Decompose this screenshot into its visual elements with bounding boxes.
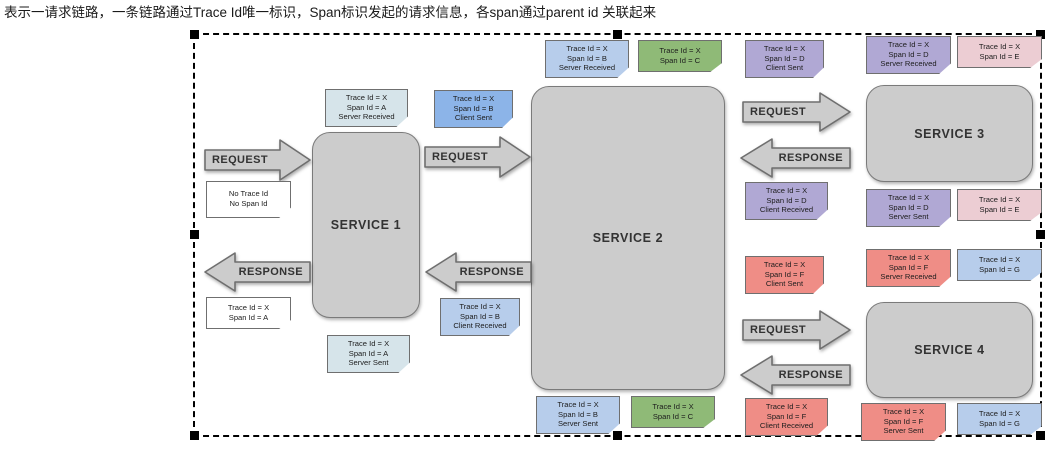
note-client-request-line-1: No Span Id (230, 199, 268, 209)
note-s1-server-received-line-2: Server Received (338, 112, 394, 122)
note-s1-server-received[interactable]: Trace Id = X Span Id = A Server Received (325, 89, 408, 127)
resize-handle-middle-left[interactable] (190, 230, 199, 239)
note-s4-span-g-bottom-line-0: Trace Id = X (979, 409, 1020, 419)
note-s4-span-g-top-line-1: Span Id = G (979, 265, 1020, 275)
note-s2-client-sent-d-line-2: Client Sent (766, 63, 803, 73)
note-s2-client-received-f-line-0: Trace Id = X (766, 402, 807, 412)
note-s2-client-received-d[interactable]: Trace Id = X Span Id = D Client Received (745, 182, 828, 220)
note-s1-client-received[interactable]: Trace Id = X Span Id = B Client Received (440, 298, 520, 336)
arrow-response-s4-to-s2-label: RESPONSE (779, 369, 843, 381)
arrow-response-s3-to-s2[interactable]: RESPONSE (739, 138, 851, 178)
diagram-canvas: 表示一请求链路，一条链路通过Trace Id唯一标识，Span标识发起的请求信息… (0, 0, 1053, 453)
note-client-request-line-0: No Trace Id (229, 189, 268, 199)
note-s4-server-sent[interactable]: Trace Id = X Span Id = F Server Sent (861, 403, 946, 441)
note-s2-client-received-f-line-2: Client Received (760, 421, 813, 431)
service-box-1[interactable]: SERVICE 1 (312, 132, 420, 318)
note-s2-server-received-line-0: Trace Id = X (566, 44, 607, 54)
note-s2-client-sent-f-line-1: Span Id = F (765, 270, 804, 280)
note-s3-server-sent-line-1: Span Id = D (888, 203, 928, 213)
note-s2-client-received-d-line-1: Span Id = D (766, 196, 806, 206)
note-s2-server-received-line-2: Server Received (559, 63, 615, 73)
service-box-2[interactable]: SERVICE 2 (531, 86, 725, 390)
note-s1-server-sent-line-0: Trace Id = X (348, 339, 389, 349)
note-s2-client-sent-d-line-0: Trace Id = X (764, 44, 805, 54)
note-s4-server-received[interactable]: Trace Id = X Span Id = F Server Received (866, 249, 951, 287)
resize-handle-bottom-center[interactable] (613, 431, 622, 440)
note-s2-server-received-line-1: Span Id = B (567, 54, 607, 64)
resize-handle-middle-right[interactable] (1036, 230, 1045, 239)
arrow-request-s2-to-s3-label: REQUEST (750, 106, 806, 118)
note-s1-server-received-line-0: Trace Id = X (346, 93, 387, 103)
note-s2-span-c-bottom[interactable]: Trace Id = X Span Id = C (631, 396, 715, 428)
note-s2-span-c-bottom-line-0: Trace Id = X (652, 402, 693, 412)
note-s4-server-sent-line-2: Server Sent (883, 426, 923, 436)
note-s3-server-received-line-0: Trace Id = X (888, 40, 929, 50)
note-s1-server-sent[interactable]: Trace Id = X Span Id = A Server Sent (327, 335, 410, 373)
note-s2-server-sent-line-0: Trace Id = X (557, 400, 598, 410)
arrow-request-s2-to-s3[interactable]: REQUEST (742, 92, 852, 132)
note-s3-server-received-line-1: Span Id = D (888, 50, 928, 60)
note-s2-server-sent-line-1: Span Id = B (558, 410, 598, 420)
note-s3-server-sent-line-0: Trace Id = X (888, 193, 929, 203)
note-s4-span-g-top-line-0: Trace Id = X (979, 255, 1020, 265)
note-s4-span-g-top[interactable]: Trace Id = X Span Id = G (957, 249, 1042, 281)
arrow-response-s1-to-client-label: RESPONSE (239, 266, 303, 278)
arrow-request-s2-to-s4-label: REQUEST (750, 324, 806, 336)
note-s3-span-e-bottom[interactable]: Trace Id = X Span Id = E (957, 189, 1042, 221)
note-s1-client-received-line-2: Client Received (453, 321, 506, 331)
note-s1-client-sent-line-2: Client Sent (455, 113, 492, 123)
arrow-response-s4-to-s2[interactable]: RESPONSE (739, 355, 851, 395)
note-s4-server-received-line-1: Span Id = F (889, 263, 928, 273)
arrow-request-s2-to-s4[interactable]: REQUEST (742, 310, 852, 350)
note-s1-client-sent-line-1: Span Id = B (454, 104, 494, 114)
note-s3-span-e-bottom-line-0: Trace Id = X (979, 195, 1020, 205)
arrow-response-s3-to-s2-label: RESPONSE (779, 152, 843, 164)
arrow-response-s2-to-s1[interactable]: RESPONSE (424, 252, 532, 292)
arrow-response-s2-to-s1-label: RESPONSE (460, 266, 524, 278)
note-s2-span-c-bottom-line-1: Span Id = C (653, 412, 693, 422)
note-s2-client-sent-f-line-0: Trace Id = X (764, 260, 805, 270)
note-s2-server-received[interactable]: Trace Id = X Span Id = B Server Received (545, 40, 629, 78)
note-s3-server-sent-line-2: Server Sent (888, 212, 928, 222)
note-s2-span-c-top[interactable]: Trace Id = X Span Id = C (638, 40, 722, 72)
service-3-label: SERVICE 3 (914, 127, 984, 141)
note-s2-client-received-d-line-0: Trace Id = X (766, 186, 807, 196)
service-2-label: SERVICE 2 (593, 231, 663, 245)
note-s1-server-sent-line-2: Server Sent (348, 358, 388, 368)
note-s2-client-received-f-line-1: Span Id = F (767, 412, 806, 422)
arrow-request-s1-to-s2[interactable]: REQUEST (424, 135, 532, 179)
note-s3-span-e-top[interactable]: Trace Id = X Span Id = E (957, 36, 1042, 68)
note-s1-client-received-line-0: Trace Id = X (459, 302, 500, 312)
note-s4-server-sent-line-1: Span Id = F (884, 417, 923, 427)
note-s2-client-sent-f[interactable]: Trace Id = X Span Id = F Client Sent (745, 256, 824, 294)
service-4-label: SERVICE 4 (914, 343, 984, 357)
note-s3-server-sent[interactable]: Trace Id = X Span Id = D Server Sent (866, 189, 951, 227)
note-client-request[interactable]: No Trace Id No Span Id (206, 181, 291, 218)
arrow-request-s1-to-s2-label: REQUEST (432, 151, 488, 163)
resize-handle-bottom-right[interactable] (1036, 431, 1045, 440)
note-s3-span-e-top-line-1: Span Id = E (980, 52, 1020, 62)
note-s1-server-sent-line-1: Span Id = A (349, 349, 388, 359)
note-s4-server-sent-line-0: Trace Id = X (883, 407, 924, 417)
note-s4-server-received-line-2: Server Received (880, 272, 936, 282)
note-s2-server-sent[interactable]: Trace Id = X Span Id = B Server Sent (536, 396, 620, 434)
note-s4-span-g-bottom[interactable]: Trace Id = X Span Id = G (957, 403, 1042, 435)
note-s3-span-e-top-line-0: Trace Id = X (979, 42, 1020, 52)
note-s4-server-received-line-0: Trace Id = X (888, 253, 929, 263)
arrow-response-s1-to-client[interactable]: RESPONSE (203, 252, 311, 292)
note-s1-client-received-line-1: Span Id = B (460, 312, 500, 322)
note-s3-span-e-bottom-line-1: Span Id = E (980, 205, 1020, 215)
note-s2-span-c-top-line-0: Trace Id = X (659, 46, 700, 56)
note-s2-client-received-f[interactable]: Trace Id = X Span Id = F Client Received (745, 398, 828, 436)
note-client-response-line-1: Span Id = A (229, 313, 268, 323)
note-s1-client-sent[interactable]: Trace Id = X Span Id = B Client Sent (434, 90, 513, 128)
note-s2-client-sent-f-line-2: Client Sent (766, 279, 803, 289)
note-client-response-line-0: Trace Id = X (228, 303, 269, 313)
note-s3-server-received[interactable]: Trace Id = X Span Id = D Server Received (866, 36, 951, 74)
note-s4-span-g-bottom-line-1: Span Id = G (979, 419, 1020, 429)
resize-handle-bottom-left[interactable] (190, 431, 199, 440)
service-box-4[interactable]: SERVICE 4 (866, 302, 1033, 398)
resize-handle-top-center[interactable] (613, 30, 622, 39)
note-s2-client-received-d-line-2: Client Received (760, 205, 813, 215)
page-caption: 表示一请求链路，一条链路通过Trace Id唯一标识，Span标识发起的请求信息… (4, 4, 1044, 22)
arrow-request-client-to-s1-label: REQUEST (212, 154, 268, 166)
note-s2-client-sent-d-line-1: Span Id = D (764, 54, 804, 64)
note-s1-client-sent-line-0: Trace Id = X (453, 94, 494, 104)
service-1-label: SERVICE 1 (331, 218, 401, 232)
note-s3-server-received-line-2: Server Received (880, 59, 936, 69)
arrow-request-client-to-s1[interactable]: REQUEST (204, 138, 312, 182)
resize-handle-top-left[interactable] (190, 30, 199, 39)
note-s2-client-sent-d[interactable]: Trace Id = X Span Id = D Client Sent (745, 40, 824, 78)
note-s2-server-sent-line-2: Server Sent (558, 419, 598, 429)
note-s1-server-received-line-1: Span Id = A (347, 103, 386, 113)
note-client-response[interactable]: Trace Id = X Span Id = A (206, 297, 291, 329)
service-box-3[interactable]: SERVICE 3 (866, 85, 1033, 182)
note-s2-span-c-top-line-1: Span Id = C (660, 56, 700, 66)
